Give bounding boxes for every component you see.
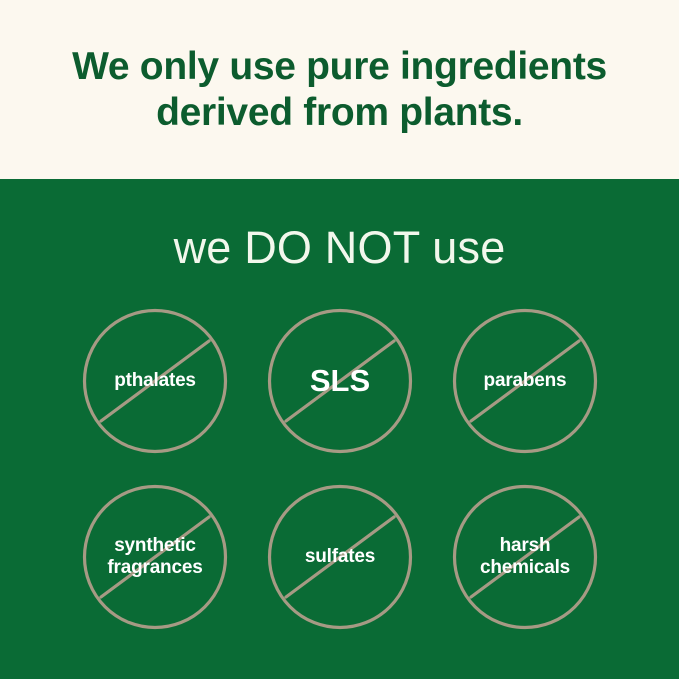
avoid-badge-pthalates: pthalates <box>82 308 228 454</box>
headline-banner: We only use pure ingredients derived fro… <box>0 0 679 179</box>
avoid-badge-sls: SLS <box>267 308 413 454</box>
no-symbol-icon <box>452 484 598 630</box>
no-symbol-icon <box>267 308 413 454</box>
no-symbol-icon <box>82 308 228 454</box>
do-not-use-panel: we DO NOT use pthalates SLS <box>0 179 679 679</box>
promo-graphic: We only use pure ingredients derived fro… <box>0 0 679 679</box>
avoid-badge-grid: pthalates SLS parabens <box>0 298 679 658</box>
no-symbol-icon <box>452 308 598 454</box>
avoid-badge-synthetic-fragrances: synthetic fragrances <box>82 484 228 630</box>
avoid-badge-sulfates: sulfates <box>267 484 413 630</box>
avoid-badge-harsh-chemicals: harsh chemicals <box>452 484 598 630</box>
no-symbol-icon <box>82 484 228 630</box>
banner-headline: We only use pure ingredients derived fro… <box>72 44 607 136</box>
no-symbol-icon <box>267 484 413 630</box>
panel-heading: we DO NOT use <box>0 223 679 273</box>
avoid-badge-parabens: parabens <box>452 308 598 454</box>
